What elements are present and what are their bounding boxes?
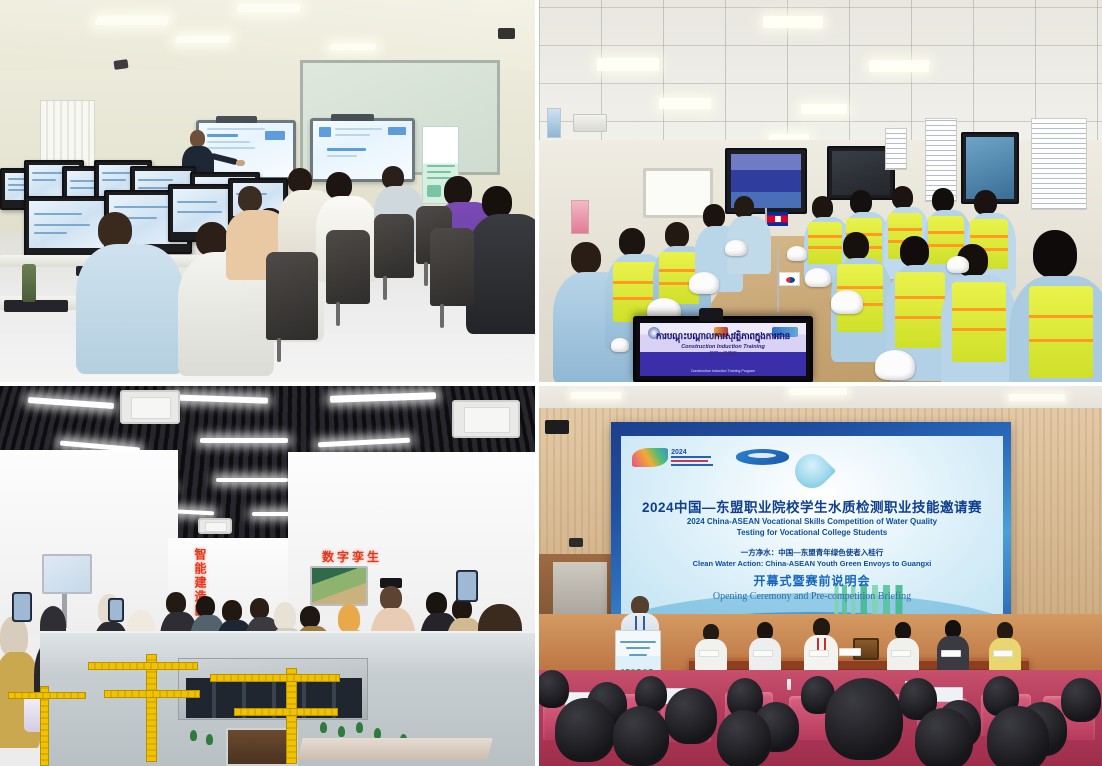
safety-helmet	[947, 256, 969, 273]
audience-head	[915, 708, 973, 766]
panel-light	[659, 98, 711, 109]
audience-head	[613, 706, 669, 766]
ceiling-light	[329, 44, 376, 50]
model-road	[297, 738, 492, 760]
briefing-monitor: ការបណ្ដុះបណ្ដាលការសុវត្ថិភាពក្នុងការដាន …	[633, 316, 813, 382]
safety-vest	[808, 222, 842, 264]
webcam-icon	[699, 308, 723, 321]
model-tree	[190, 730, 197, 741]
keyboard	[4, 300, 68, 312]
briefing-footer: Construction Induction Training Program	[640, 369, 806, 373]
stage-led-screen: 2024 2024中国—东盟职业院校学生水质检测职业技能邀请赛 2024 Chi…	[611, 422, 1011, 638]
exhibition-display-left	[42, 554, 92, 594]
banner-title-english: 2024 China-ASEAN Vocational Skills Compe…	[621, 517, 1003, 539]
wall-poster	[571, 200, 589, 234]
name-card	[993, 650, 1013, 657]
banner-logo-2024-ribbon-icon: 2024	[632, 446, 716, 471]
banner-event-chinese: 开幕式暨赛前说明会	[621, 572, 1003, 589]
audience-head	[987, 706, 1049, 766]
banner-event-english: Opening Ceremony and Pre-competition Bri…	[621, 591, 1003, 602]
office-chair	[266, 252, 318, 340]
wall-speaker	[545, 420, 569, 434]
strip-light	[216, 478, 288, 482]
whiteboard	[643, 168, 713, 218]
photo-opening-ceremony: 2024 2024中国—东盟职业院校学生水质检测职业技能邀请赛 2024 Chi…	[539, 386, 1102, 766]
security-camera-icon	[113, 59, 128, 70]
banner-title-english-line1: 2024 China-ASEAN Vocational Skills Compe…	[687, 517, 937, 526]
model-tree	[206, 734, 213, 745]
name-card	[941, 650, 961, 657]
safety-helmet	[689, 272, 719, 294]
name-card	[891, 650, 911, 657]
safety-helmet	[725, 240, 747, 256]
ceiling-light	[175, 36, 232, 43]
name-card	[699, 650, 719, 657]
photo-smart-construction-exhibition: 智能建造区 数字孪生	[0, 386, 535, 766]
security-camera-icon	[498, 28, 515, 39]
wall-chart	[1031, 118, 1087, 210]
smartphone	[12, 592, 32, 622]
model-tree	[338, 726, 345, 737]
air-conditioner	[573, 114, 607, 132]
safety-helmet	[787, 246, 807, 261]
banner-title-english-line2: Testing for Vocational College Students	[737, 528, 887, 537]
audience-head	[539, 670, 569, 708]
photo-construction-induction-training: ការបណ្ដុះបណ្ដាលការសុវត្ថិភាពក្នុងការដាន …	[539, 0, 1102, 382]
safety-helmet	[875, 350, 915, 380]
smartphone	[456, 570, 478, 602]
office-chair	[430, 228, 474, 306]
safety-vest	[952, 282, 1006, 362]
banner-title-chinese: 2024中国—东盟职业院校学生水质检测职业技能邀请赛	[621, 496, 1003, 516]
photo-computer-lab	[0, 0, 535, 382]
sign-digital-twin: 数字孪生	[322, 548, 382, 565]
security-camera-icon	[569, 538, 583, 547]
event-banner: 2024 2024中国—东盟职业院校学生水质检测职业技能邀请赛 2024 Chi…	[621, 436, 1003, 632]
tower-crane	[286, 668, 297, 764]
panel-light	[597, 58, 659, 71]
banner-theme-english: Clean Water Action: China-ASEAN Youth Gr…	[621, 559, 1003, 568]
flag-cambodia-icon	[767, 212, 788, 226]
banner-logo-emblem-icon	[736, 448, 789, 470]
briefing-monitor-screen: ការបណ្ដុះបណ្ដាលការសុវត្ថិភាពក្នុងការដាន …	[640, 323, 806, 376]
audience-head	[825, 678, 903, 760]
office-chair	[374, 214, 414, 278]
audience-head	[665, 688, 717, 744]
tower-crane	[40, 686, 49, 766]
ceiling-light	[1009, 394, 1065, 401]
ceiling-light	[571, 392, 621, 399]
lanyard	[635, 616, 645, 630]
smartphone	[108, 598, 124, 622]
briefing-title-khmer: ការបណ្ដុះបណ្ដាលការសុវត្ថិភាពក្នុងការដាន	[640, 331, 806, 344]
safety-helmet	[805, 268, 831, 287]
model-tree	[356, 722, 363, 733]
ceiling-light	[789, 388, 847, 395]
name-card	[753, 650, 773, 657]
wall-poster	[885, 128, 907, 170]
ac-vent	[120, 390, 180, 424]
briefing-title-chinese: 施工入场培训	[640, 351, 806, 357]
safety-helmet	[611, 338, 629, 352]
ceiling-light	[237, 4, 300, 12]
name-card	[809, 650, 829, 657]
tower-crane	[146, 654, 157, 762]
panel-light	[801, 104, 847, 114]
office-chair	[326, 230, 370, 304]
flag-south-korea-icon	[779, 272, 800, 286]
exhibition-display-digital-twin	[310, 566, 368, 606]
lanyard	[817, 638, 826, 650]
briefing-title-english: Construction Induction Training	[640, 344, 806, 350]
audience-head	[1061, 678, 1101, 722]
safety-vest	[1029, 286, 1093, 378]
banner-theme-chinese: 一方净水：中国—东盟青年绿色使者入桂行	[621, 547, 1003, 558]
audience-head	[717, 710, 771, 766]
water-bottle	[787, 679, 791, 690]
photo-collage: ការបណ្ដុះបណ្ដាលការសុវត្ថិភាពក្នុងការដាន …	[0, 0, 1102, 766]
strip-light	[200, 438, 288, 443]
ac-vent	[452, 400, 520, 438]
audience-head	[555, 698, 615, 762]
panel-light	[869, 60, 929, 72]
wall-poster	[547, 108, 561, 138]
water-droplet-icon	[788, 447, 836, 495]
ceiling-light	[95, 16, 170, 25]
ac-vent	[198, 518, 232, 534]
safety-vest	[895, 272, 945, 348]
water-bottle	[22, 264, 36, 302]
name-card	[839, 648, 861, 656]
panel-light	[763, 16, 823, 28]
model-tree	[320, 722, 327, 733]
safety-helmet	[831, 290, 863, 314]
